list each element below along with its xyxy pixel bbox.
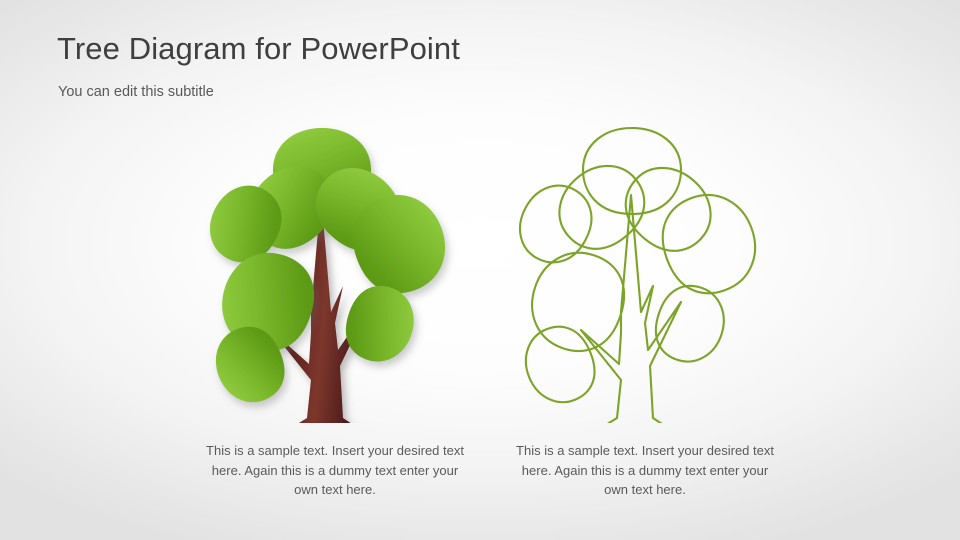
filled-tree-graphic[interactable] <box>185 118 485 423</box>
filled-tree-caption: This is a sample text. Insert your desir… <box>185 441 485 500</box>
page-title: Tree Diagram for PowerPoint <box>57 31 460 67</box>
leaf-right-small <box>337 278 423 371</box>
slide-canvas: Tree Diagram for PowerPoint You can edit… <box>0 0 960 540</box>
tree-diagram-filled[interactable]: This is a sample text. Insert your desir… <box>185 118 485 500</box>
page-subtitle: You can edit this subtitle <box>58 84 214 100</box>
outline-trunk-shape <box>581 195 681 423</box>
outline-tree-graphic[interactable] <box>495 118 795 423</box>
outline-leaf-left-small <box>515 317 605 412</box>
tree-diagram-outline[interactable]: This is a sample text. Insert your desir… <box>495 118 795 500</box>
outline-leaf-upper-right-inner <box>610 152 726 267</box>
outline-tree-caption: This is a sample text. Insert your desir… <box>495 441 795 500</box>
